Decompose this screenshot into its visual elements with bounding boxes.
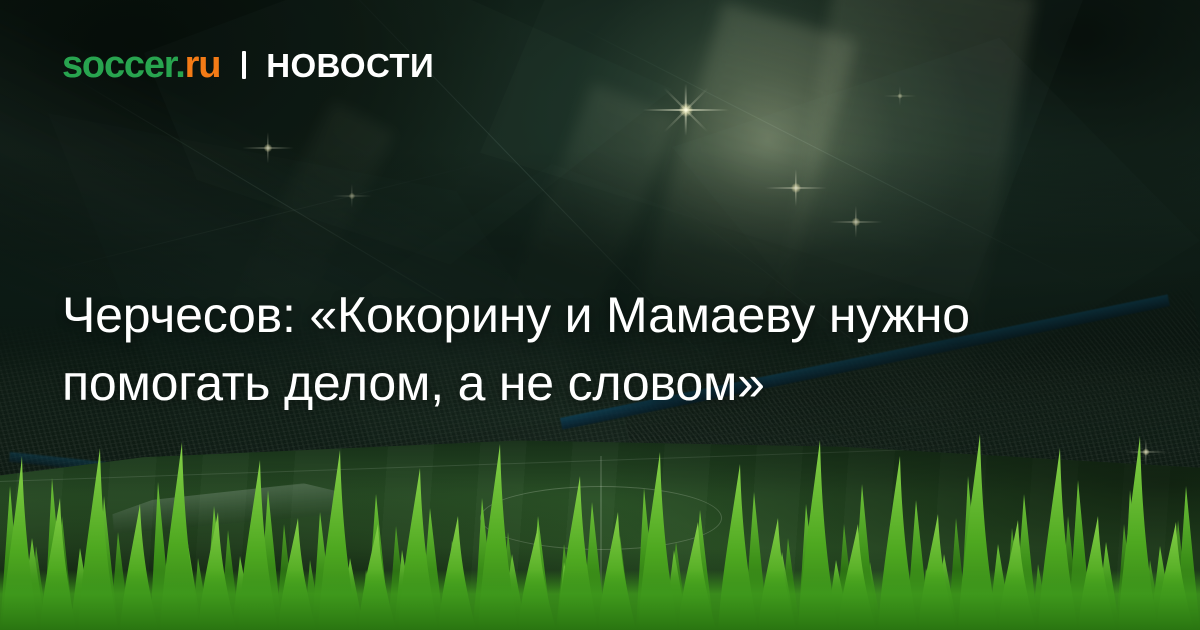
logo-name-part: soccer	[62, 44, 175, 86]
header-separator	[242, 51, 246, 79]
grass-blades-illustration	[0, 420, 1200, 630]
site-header: soccer.ru НОВОСТИ	[62, 46, 434, 84]
logo-tld-part: ru	[185, 44, 221, 86]
share-card: soccer.ru НОВОСТИ Черчесов: «Кокорину и …	[0, 0, 1200, 630]
headline-title: Черчесов: «Кокорину и Мамаеву нужно помо…	[62, 281, 1152, 417]
soccer-ru-logo[interactable]: soccer.ru	[62, 46, 220, 84]
section-label-news: НОВОСТИ	[266, 49, 434, 82]
logo-dot: .	[175, 44, 184, 86]
foreground-grass	[0, 420, 1200, 630]
